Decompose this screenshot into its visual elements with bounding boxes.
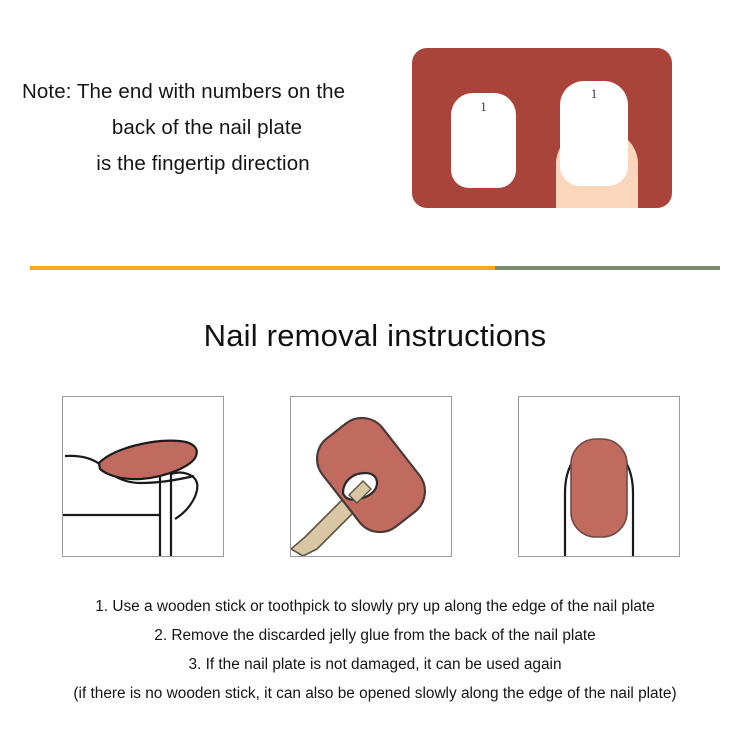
steps-text-block: 1. Use a wooden stick or toothpick to sl… — [0, 592, 750, 708]
page-title: Nail removal instructions — [0, 318, 750, 354]
nail-on-finger-front-view-icon — [519, 397, 679, 556]
instruction-panels — [62, 396, 690, 559]
plate-nail-right: 1 — [560, 81, 628, 186]
plate-nail-right-number: 1 — [560, 86, 628, 102]
step-line-1: 1. Use a wooden stick or toothpick to sl… — [0, 592, 750, 621]
note-line-2: back of the nail plate — [10, 110, 390, 146]
section-divider — [30, 266, 720, 270]
step-line-2: 2. Remove the discarded jelly glue from … — [0, 621, 750, 650]
instruction-panel-3 — [518, 396, 680, 557]
divider-segment-orange — [30, 266, 495, 270]
stick-under-nail-icon — [291, 397, 451, 556]
plate-nail-left-number: 1 — [451, 99, 516, 115]
plate-nail-left: 1 — [451, 93, 516, 188]
note-section: Note: The end with numbers on the back o… — [0, 0, 750, 250]
note-line-1: Note: The end with numbers on the — [10, 74, 390, 110]
step-line-4: (if there is no wooden stick, it can als… — [0, 679, 750, 708]
pry-up-side-view-icon — [63, 397, 223, 556]
nail-plate-sheet-illustration: 1 1 — [412, 48, 672, 208]
instruction-panel-1 — [62, 396, 224, 557]
note-line-3: is the fingertip direction — [10, 146, 390, 182]
note-text-block: Note: The end with numbers on the back o… — [10, 74, 390, 182]
divider-segment-green — [495, 266, 720, 270]
step-line-3: 3. If the nail plate is not damaged, it … — [0, 650, 750, 679]
instruction-panel-2 — [290, 396, 452, 557]
